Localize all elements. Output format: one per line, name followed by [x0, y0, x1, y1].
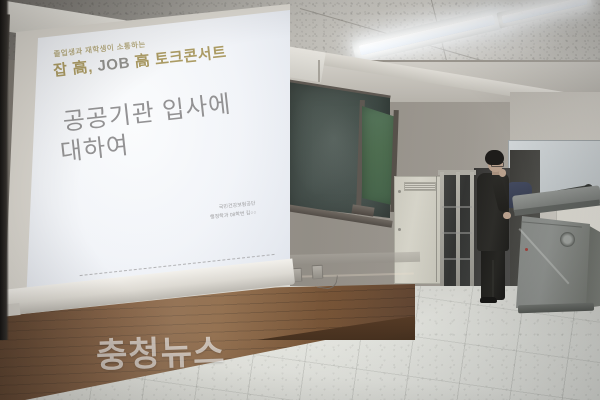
frame-left-shadow: [0, 0, 9, 340]
person-hand: [503, 212, 511, 219]
cabinet-vent: [404, 182, 436, 191]
rack-post: [456, 172, 460, 290]
presentation-slide: 졸업생과 재학생이 소통하는 잡 高, JOB 高 토크콘서트 공공기관 입사에…: [40, 15, 303, 301]
rack-post: [470, 172, 474, 290]
slide-headline-en: JOB: [97, 54, 131, 74]
rack-shelf: [442, 206, 472, 208]
rack-shelf: [442, 232, 472, 234]
rack-shelf: [442, 258, 472, 260]
person-hair: [485, 150, 504, 165]
cabinet-door-seam: [436, 176, 437, 282]
podium: [512, 196, 600, 316]
podium-emblem-icon: [560, 232, 575, 247]
rack-post: [440, 172, 444, 290]
projection-screen: 졸업생과 재학생이 소통하는 잡 高, JOB 高 토크콘서트 공공기관 입사에…: [0, 4, 292, 320]
person-leg-separation: [492, 260, 494, 300]
equipment-cabinet[interactable]: [394, 176, 442, 284]
podium-base: [518, 303, 594, 314]
speaker-person: [475, 150, 517, 308]
cabinet-latch[interactable]: [398, 228, 401, 231]
slide-credit: 국민건강보험공단 행정학과 08학번 김○○: [209, 200, 257, 222]
photo-scene: 졸업생과 재학생이 소통하는 잡 高, JOB 高 토크콘서트 공공기관 입사에…: [0, 0, 600, 400]
slide-title-line2: 대하여: [58, 125, 131, 167]
cabinet-latch[interactable]: [398, 190, 401, 193]
person-shoe: [480, 297, 497, 303]
slide-headline-part1: 잡 高,: [53, 58, 99, 80]
podium-front-panel: [516, 216, 590, 308]
person-hand-raised: [499, 169, 506, 177]
power-indicator-icon: [525, 248, 528, 251]
